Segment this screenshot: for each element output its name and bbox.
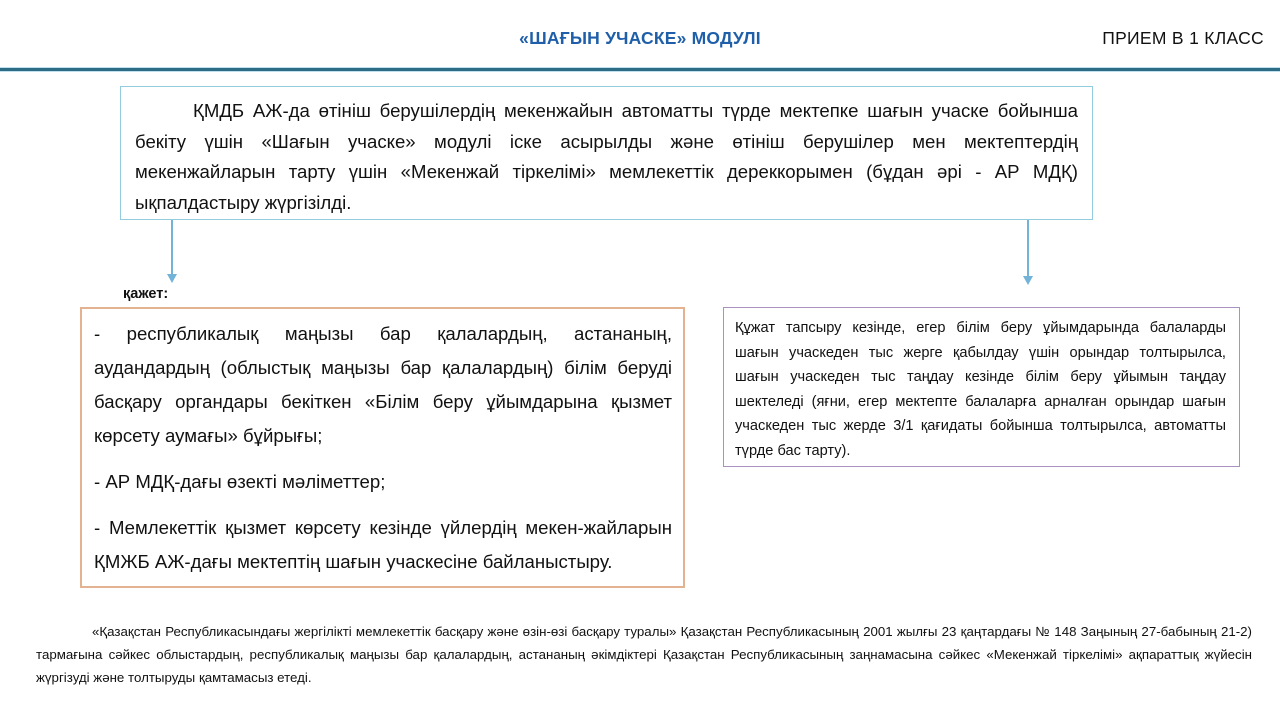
requirements-list: - республикалық маңызы бар қалалардың, а…: [94, 317, 672, 579]
note-box-text: Құжат тапсыру кезінде, егер білім беру ұ…: [735, 316, 1226, 464]
arrow-to-requirements-shaft: [171, 220, 173, 276]
page-title: «ШАҒЫН УЧАСКЕ» МОДУЛІ: [0, 28, 1280, 49]
intro-box-text: ҚМДБ АЖ-да өтініш берушілердің мекенжайы…: [135, 96, 1078, 218]
arrow-to-note-shaft: [1027, 220, 1029, 278]
requirements-label: қажет:: [123, 286, 168, 302]
requirements-item: - республикалық маңызы бар қалалардың, а…: [94, 317, 672, 453]
header-right-label: ПРИЕМ В 1 КЛАСС: [1102, 28, 1264, 49]
header-divider: [0, 68, 1280, 71]
note-box: Құжат тапсыру кезінде, егер білім беру ұ…: [723, 307, 1240, 467]
arrow-to-requirements-icon: [167, 274, 177, 283]
requirements-item: - АР МДҚ-дағы өзекті мәліметтер;: [94, 465, 672, 499]
requirements-box: - республикалық маңызы бар қалалардың, а…: [80, 307, 685, 588]
slide-header: «ШАҒЫН УЧАСКЕ» МОДУЛІ ПРИЕМ В 1 КЛАСС: [0, 0, 1280, 72]
footnote: «Қазақстан Республикасындағы жергілікті …: [36, 620, 1252, 689]
arrow-to-note-icon: [1023, 276, 1033, 285]
intro-box: ҚМДБ АЖ-да өтініш берушілердің мекенжайы…: [120, 86, 1093, 220]
requirements-item: - Мемлекеттік қызмет көрсету кезінде үйл…: [94, 511, 672, 579]
